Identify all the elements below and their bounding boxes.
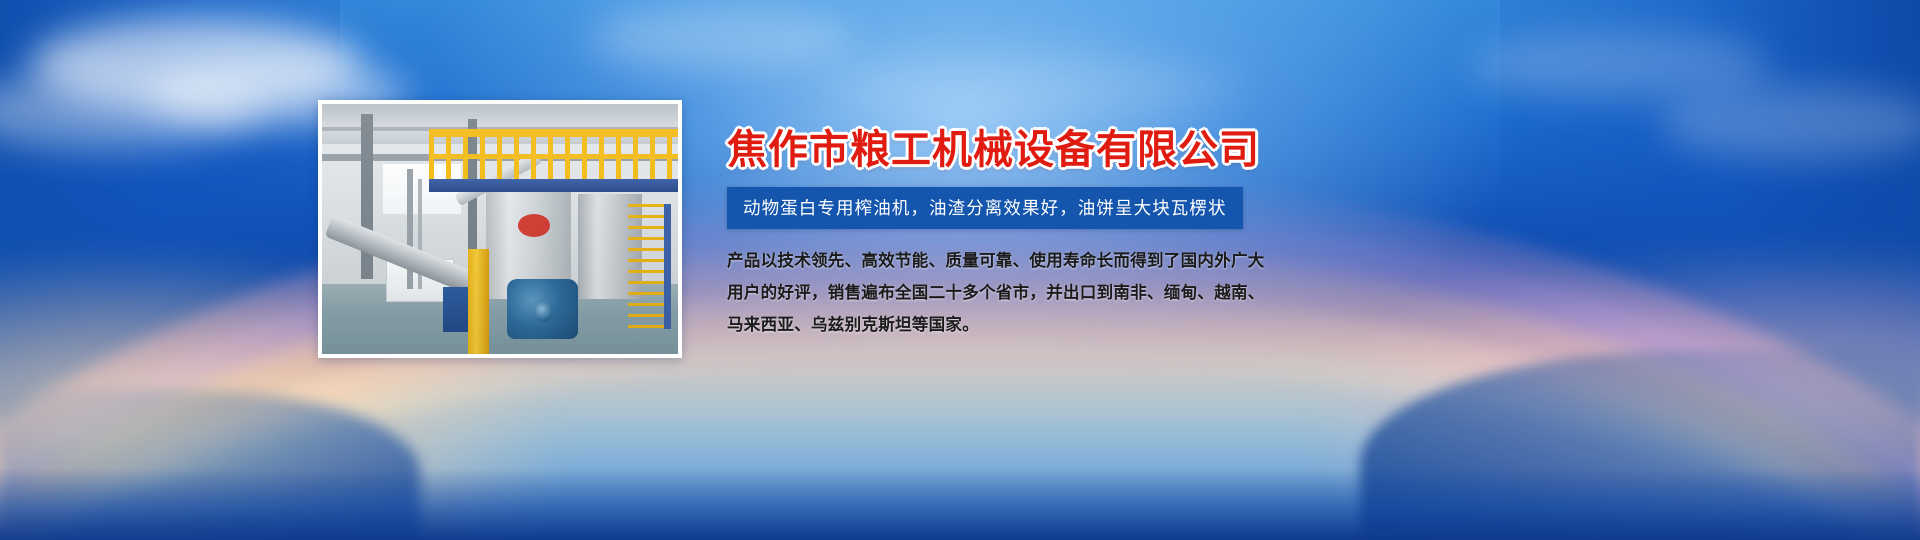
photo-vignette <box>322 104 678 354</box>
company-headline: 焦作市粮工机械设备有限公司 <box>727 128 1287 173</box>
cloud-shape <box>590 6 850 70</box>
banner-copy: 焦作市粮工机械设备有限公司 动物蛋白专用榨油机，油渣分离效果好，油饼呈大块瓦楞状… <box>727 128 1287 341</box>
sub-banner-tagline: 动物蛋白专用榨油机，油渣分离效果好，油饼呈大块瓦楞状 <box>727 187 1243 229</box>
product-photo-frame <box>318 100 682 358</box>
hero-banner: 焦作市粮工机械设备有限公司 动物蛋白专用榨油机，油渣分离效果好，油饼呈大块瓦楞状… <box>0 0 1920 540</box>
cloud-shape <box>1470 30 1770 100</box>
product-photo <box>322 104 678 354</box>
description-paragraph: 产品以技术领先、高效节能、质量可靠、使用寿命长而得到了国内外广大用户的好评，销售… <box>727 245 1279 341</box>
horizon-floor <box>0 468 1920 540</box>
cloud-shape <box>820 58 1240 114</box>
